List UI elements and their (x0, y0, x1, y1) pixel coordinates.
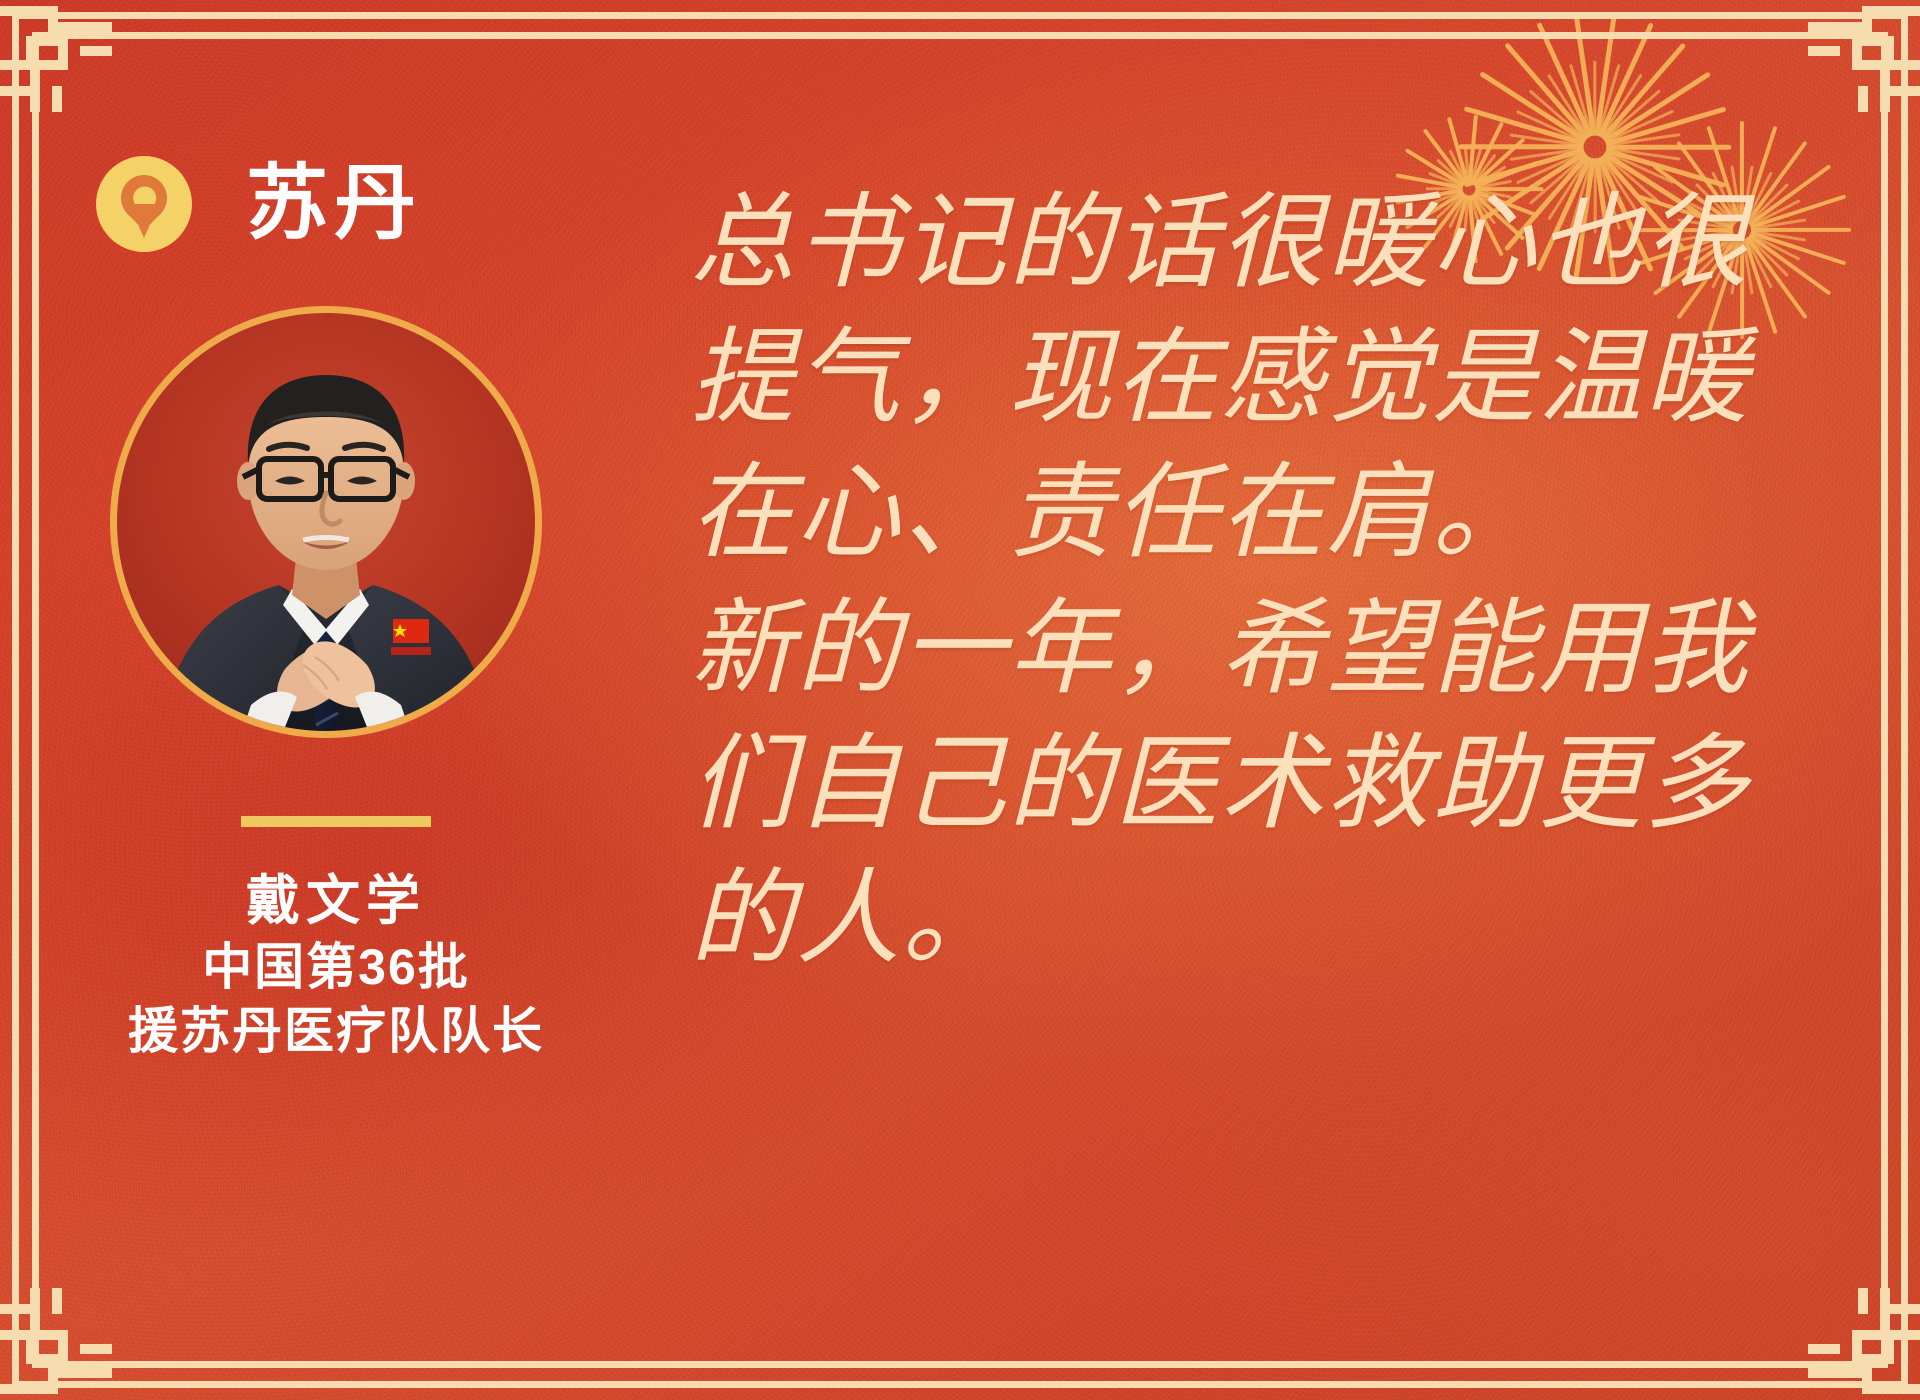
quote-line: 提气，现在感觉是温暖 (690, 311, 1770, 446)
quote-block: 总书记的话很暖心也很 提气，现在感觉是温暖 在心、责任在肩。 新的一年，希望能用… (690, 176, 1770, 987)
quote-line: 新的一年，希望能用我 (690, 582, 1770, 717)
corner-ornament-top-right (1808, 0, 1920, 112)
location-label: 苏丹 (246, 163, 422, 245)
quote-line: 们自己的医术救助更多 (690, 717, 1770, 852)
person-title-line-1: 中国第36批 (96, 935, 576, 999)
quote-line: 的人。 (690, 852, 1770, 987)
gold-divider (241, 816, 431, 827)
poster-canvas: 苏丹 (0, 0, 1920, 1400)
corner-ornament-bottom-right (1808, 1288, 1920, 1400)
person-info: 戴文学 中国第36批 援苏丹医疗队队长 (96, 869, 576, 1063)
corner-ornament-bottom-left (0, 1288, 112, 1400)
person-title-line-2: 援苏丹医疗队队长 (96, 999, 576, 1063)
corner-ornament-top-left (0, 0, 112, 112)
quote-line: 在心、责任在肩。 (690, 446, 1770, 581)
location-pin-icon (96, 156, 192, 252)
location-row: 苏丹 (96, 150, 576, 258)
person-panel: 苏丹 (96, 150, 576, 1063)
avatar-ring (110, 306, 542, 738)
avatar (110, 306, 542, 738)
quote-line: 总书记的话很暖心也很 (690, 176, 1770, 311)
person-name: 戴文学 (96, 869, 576, 935)
